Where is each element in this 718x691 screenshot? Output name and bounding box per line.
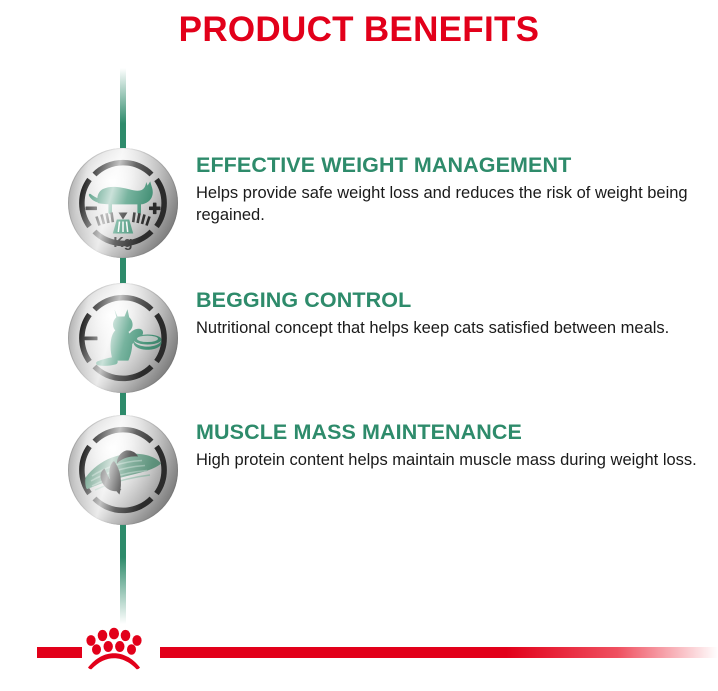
benefit-text-block: EFFECTIVE WEIGHT MANAGEMENT Helps provid… (196, 152, 706, 226)
benefit-row: BEGGING CONTROL Nutritional concept that… (0, 283, 718, 403)
benefit-row: MUSCLE MASS MAINTENANCE High protein con… (0, 415, 718, 535)
benefit-heading: EFFECTIVE WEIGHT MANAGEMENT (196, 152, 706, 178)
svg-text:Kg: Kg (113, 235, 132, 251)
benefit-heading: BEGGING CONTROL (196, 287, 706, 313)
muscle-arm-icon (68, 415, 178, 525)
benefit-text-block: MUSCLE MASS MAINTENANCE High protein con… (196, 419, 706, 471)
footer-brand-band (0, 625, 718, 691)
benefit-text-block: BEGGING CONTROL Nutritional concept that… (196, 287, 706, 339)
benefit-body: Helps provide safe weight loss and reduc… (196, 182, 701, 226)
benefit-body: High protein content helps maintain musc… (196, 449, 701, 471)
begging-cat-bowl-icon (68, 283, 178, 393)
benefit-row: Kg EFFECTIVE WEIGHT MANAGEMENT Helps pro… (0, 148, 718, 268)
page-title: PRODUCT BENEFITS (0, 8, 718, 52)
weight-scale-cat-icon: Kg (68, 148, 178, 258)
benefit-heading: MUSCLE MASS MAINTENANCE (196, 419, 706, 445)
benefit-body: Nutritional concept that helps keep cats… (196, 317, 701, 339)
footer-bar-left (37, 647, 82, 658)
footer-bar-right (160, 647, 718, 658)
royal-canin-crown-logo (82, 627, 146, 671)
